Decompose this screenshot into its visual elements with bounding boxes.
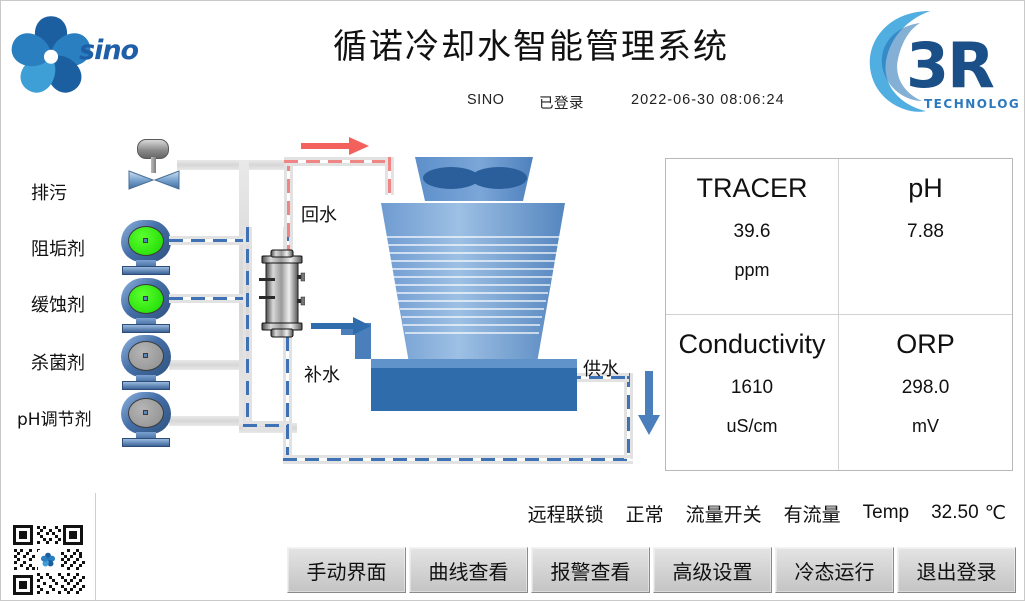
measurement-cell-conductivity: Conductivity 1610 uS/cm — [666, 315, 839, 471]
label-biocide: 杀菌剂 — [31, 349, 85, 375]
pump-shaft-icon — [143, 353, 148, 358]
header-datetime: 2022-06-30 08:06:24 — [631, 92, 785, 108]
sino-logo: sino — [7, 9, 157, 101]
measurement-unit: ppm — [734, 260, 769, 281]
3r-technology-logo-icon: 3R TECHNOLOGY — [860, 5, 1020, 117]
pump-shaft-icon — [143, 296, 148, 301]
pipe-antiscalant-dosing — [169, 236, 249, 245]
logout-button[interactable]: 退出登录 — [897, 547, 1016, 593]
measurement-name: Conductivity — [678, 329, 825, 360]
process-diagram: 排污 阻垢剂 缓蚀剂 杀菌剂 pH调节剂 回水 补水 供水 — [1, 123, 661, 483]
pump-shaft-icon — [143, 410, 148, 415]
svg-text:TECHNOLOGY: TECHNOLOGY — [924, 97, 1020, 111]
header: sino 循诺冷却水智能管理系统 SINO 已登录 2022-06-30 08:… — [1, 1, 1025, 123]
valve-body-icon — [127, 169, 181, 191]
pump-base-icon — [122, 266, 170, 275]
measurement-cell-ph: pH 7.88 — [839, 159, 1012, 315]
measurement-value: 7.88 — [907, 221, 944, 243]
pipe-corrosion-dosing — [169, 294, 249, 303]
measurement-name: TRACER — [696, 173, 807, 204]
valve-actuator-icon — [137, 139, 169, 159]
label-makeup-water: 补水 — [301, 361, 343, 387]
measurement-cell-tracer: TRACER 39.6 ppm — [666, 159, 839, 315]
ph-adjuster-pump[interactable] — [119, 392, 173, 448]
temp-value: 32.50 — [931, 502, 979, 524]
pipe-loop-right-vertical — [624, 373, 633, 459]
pipe-blowdown-gray — [177, 160, 287, 170]
pump-shaft-icon — [143, 238, 148, 243]
antiscalant-pump[interactable] — [119, 220, 173, 276]
pipe-return-left-vertical — [284, 157, 293, 257]
measurement-name: ORP — [896, 329, 955, 360]
advanced-settings-button[interactable]: 高级设置 — [653, 547, 772, 593]
cooling-tower — [341, 153, 601, 423]
navigation-button-bar: 手动界面 曲线查看 报警查看 高级设置 冷态运行 退出登录 — [287, 547, 1016, 593]
label-return-water: 回水 — [298, 201, 340, 227]
label-corrosion-inhibitor: 缓蚀剂 — [31, 291, 85, 317]
return-flow-arrow-icon — [301, 135, 371, 157]
curve-view-button[interactable]: 曲线查看 — [409, 547, 528, 593]
measurement-name: pH — [908, 173, 943, 204]
measurement-value: 298.0 — [902, 377, 950, 399]
sino-flower-logo-icon — [39, 551, 57, 569]
remote-interlock-value: 正常 — [626, 500, 664, 527]
corrosion-inhibitor-pump[interactable] — [119, 278, 173, 334]
biocide-pump[interactable] — [119, 335, 173, 391]
left-divider — [95, 493, 96, 601]
qr-code — [11, 523, 85, 597]
label-ph-adjuster: pH调节剂 — [17, 405, 92, 430]
temp-unit: ℃ — [985, 502, 1006, 524]
pump-base-icon — [122, 324, 170, 333]
measurement-unit: uS/cm — [726, 416, 777, 437]
supply-flow-arrow-icon — [637, 371, 661, 437]
svg-text:3R: 3R — [906, 29, 994, 102]
flow-switch-value: 有流量 — [784, 500, 841, 527]
measurement-unit: mV — [912, 416, 939, 437]
page-title: 循诺冷却水智能管理系统 — [251, 19, 811, 68]
makeup-flow-arrow-icon — [311, 315, 373, 337]
qr-center-logo — [38, 550, 58, 570]
cold-run-button[interactable]: 冷态运行 — [775, 547, 894, 593]
pump-base-icon — [122, 438, 170, 447]
side-stream-filter-vessel[interactable] — [259, 247, 305, 341]
application-window: sino 循诺冷却水智能管理系统 SINO 已登录 2022-06-30 08:… — [0, 0, 1025, 601]
sino-logo-text: sino — [79, 35, 138, 66]
manual-interface-button[interactable]: 手动界面 — [287, 547, 406, 593]
measurement-value: 1610 — [731, 377, 773, 399]
status-bar: 远程联锁 正常 流量开关 有流量 Temp 32.50 ℃ — [1, 493, 1025, 533]
blowdown-valve[interactable] — [123, 139, 185, 191]
temp-label: Temp — [863, 502, 909, 524]
pipe-loop-bottom-main — [283, 455, 633, 464]
header-login-status: 已登录 — [539, 92, 584, 113]
measurement-cell-orp: ORP 298.0 mV — [839, 315, 1012, 471]
pipe-biocide-gray — [169, 360, 247, 370]
measurement-panel: TRACER 39.6 ppm pH 7.88 Conductivity 161… — [665, 158, 1013, 471]
remote-interlock-label: 远程联锁 — [528, 500, 604, 527]
pump-base-icon — [122, 381, 170, 390]
label-supply-water: 供水 — [583, 355, 619, 381]
pipe-phadjust-gray — [169, 416, 247, 426]
flow-switch-label: 流量开关 — [686, 500, 762, 527]
header-username: SINO — [467, 92, 504, 108]
label-antiscalant: 阻垢剂 — [31, 235, 85, 261]
pipe-loop-left-vertical — [243, 227, 252, 427]
measurement-value: 39.6 — [734, 221, 771, 243]
label-blowdown: 排污 — [31, 179, 67, 205]
alarm-view-button[interactable]: 报警查看 — [531, 547, 650, 593]
